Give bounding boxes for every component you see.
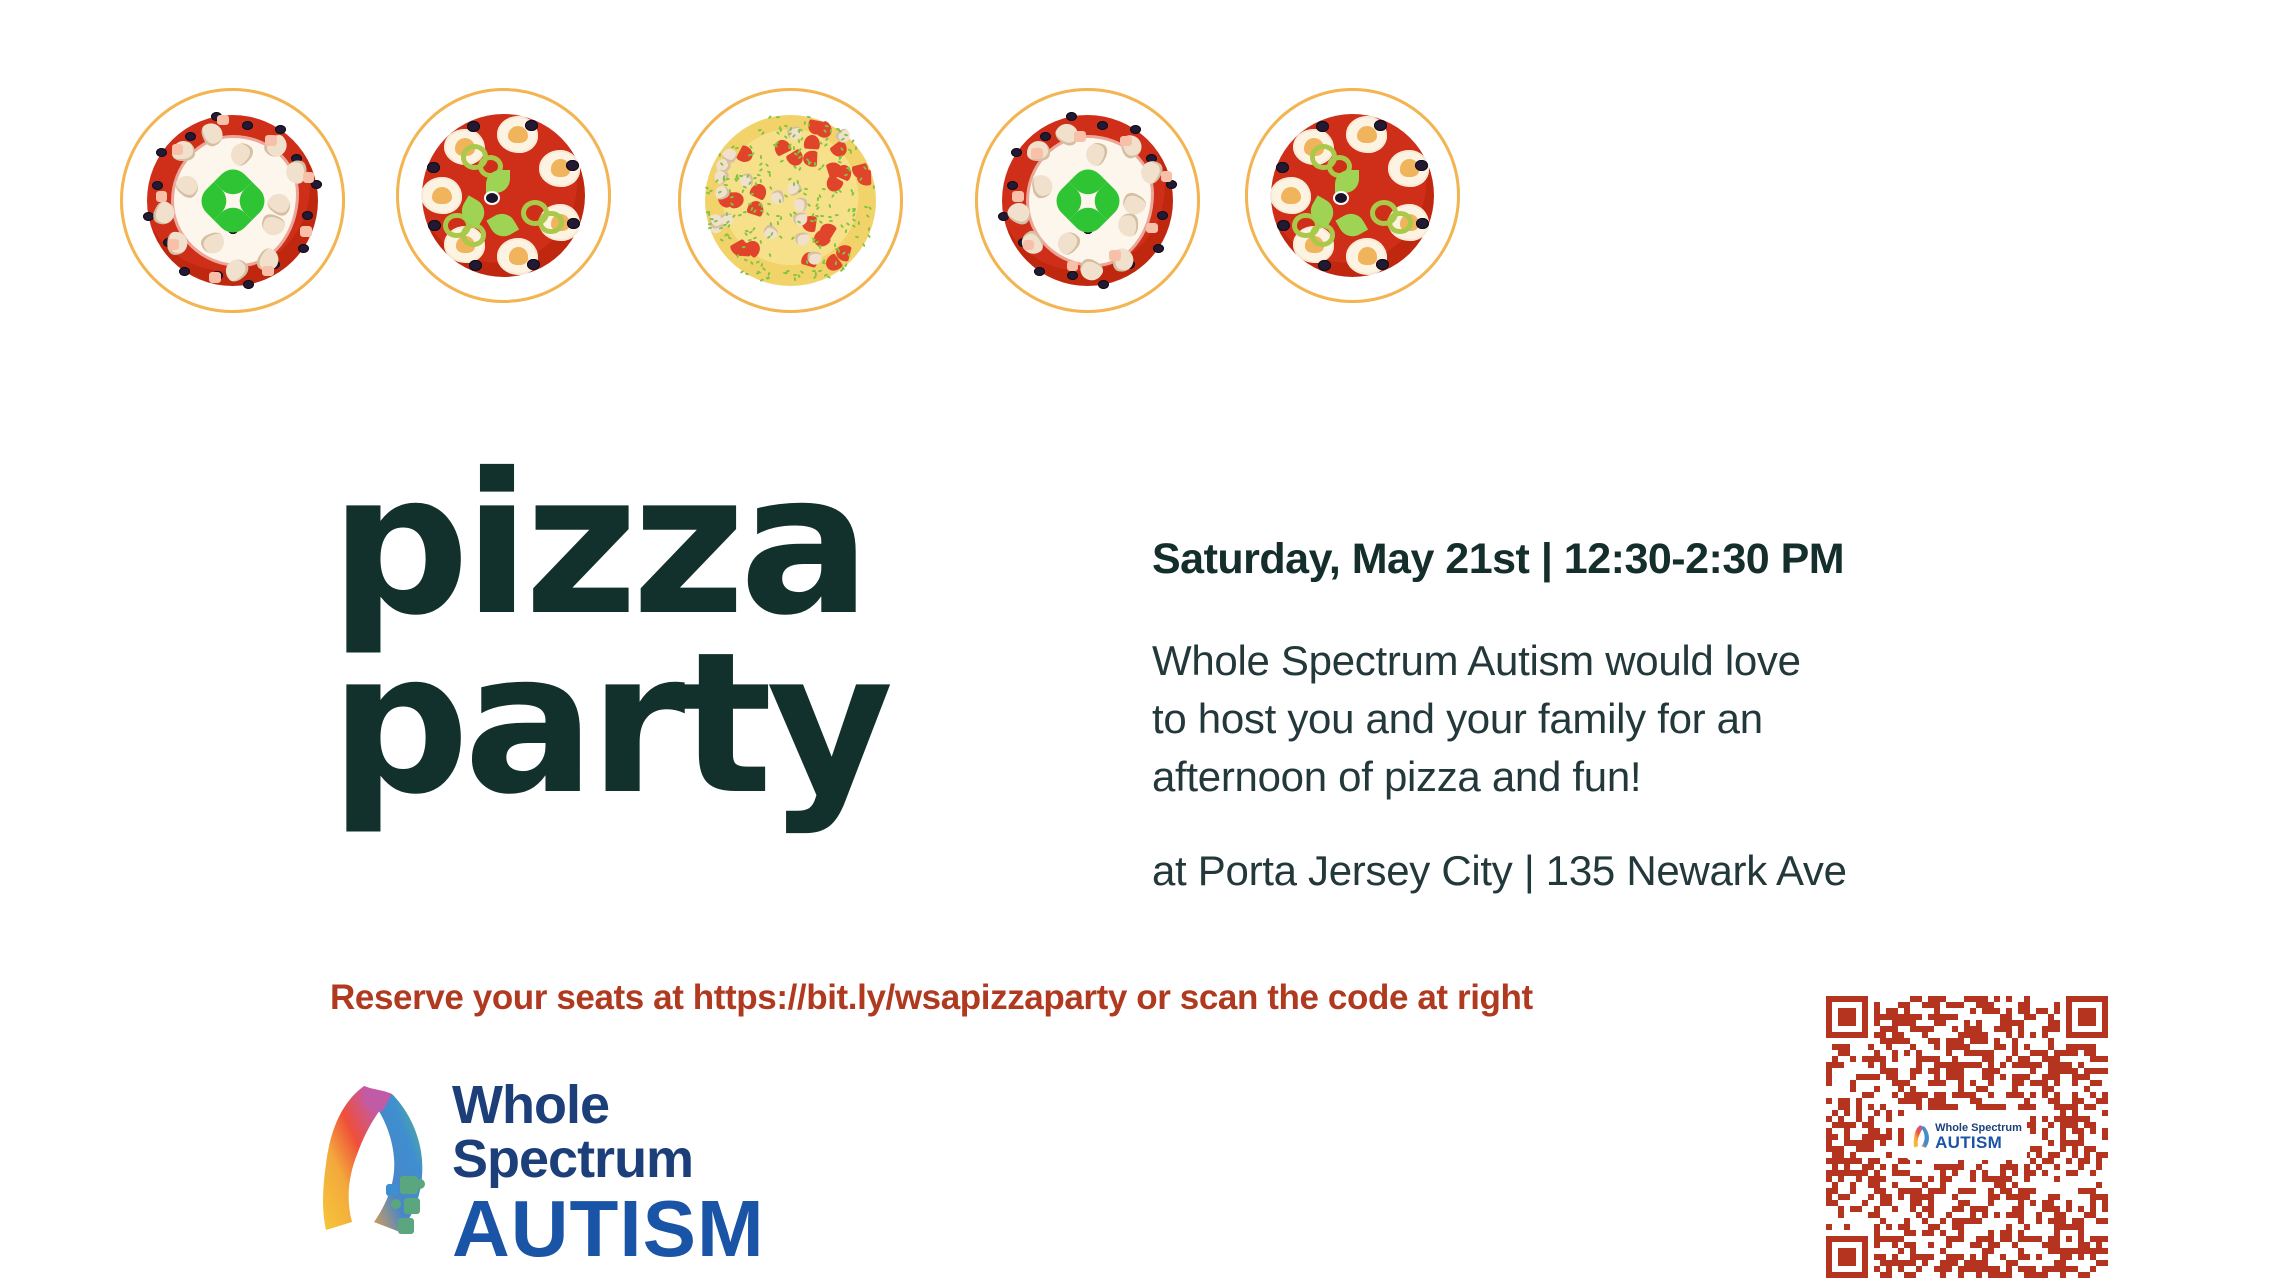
pizza-topping bbox=[467, 121, 480, 132]
pizza-topping bbox=[855, 146, 857, 150]
pizza-topping bbox=[1040, 132, 1051, 141]
mushroom-slice bbox=[432, 187, 452, 205]
pizza-topping bbox=[1270, 177, 1311, 214]
pizza-topping bbox=[1318, 260, 1331, 271]
qr-logo-line-2: AUTISM bbox=[1935, 1134, 2022, 1151]
pizza-topping bbox=[722, 177, 724, 181]
pizza-topping bbox=[428, 220, 441, 231]
pizza-topping bbox=[525, 120, 538, 131]
pizza-topping bbox=[1031, 148, 1043, 159]
pizza-3 bbox=[678, 88, 903, 313]
pizza-topping bbox=[1376, 259, 1389, 270]
pizza-topping bbox=[1316, 121, 1329, 132]
pizza-topping bbox=[803, 121, 806, 125]
event-venue: at Porta Jersey City | 135 Newark Ave bbox=[1152, 842, 2032, 900]
pizza-topping bbox=[803, 134, 819, 148]
pizza-topping bbox=[1387, 211, 1413, 235]
pizza-topping bbox=[1153, 244, 1164, 253]
pizza-topping bbox=[742, 246, 746, 249]
pizza-topping bbox=[834, 261, 837, 265]
pizza-2 bbox=[396, 88, 611, 303]
pizza-topping bbox=[829, 220, 833, 222]
event-datetime: Saturday, May 21st | 12:30-2:30 PM bbox=[1152, 535, 2032, 584]
pizza-topping bbox=[847, 253, 850, 257]
pizza-topping bbox=[867, 227, 870, 231]
pizza-topping bbox=[1277, 220, 1290, 231]
pizza-topping bbox=[1074, 131, 1086, 142]
pizza-topping bbox=[743, 210, 747, 213]
pizza-topping bbox=[769, 222, 772, 226]
pizza-topping bbox=[172, 144, 184, 155]
qr-code[interactable]: Whole Spectrum AUTISM bbox=[1826, 996, 2108, 1278]
pizza-1 bbox=[120, 88, 345, 313]
logo-wordmark: Whole Spectrum AUTISM bbox=[452, 1078, 832, 1270]
mushroom-slice bbox=[508, 126, 528, 144]
headline-line-2: party bbox=[330, 634, 888, 813]
pizza-topping bbox=[1157, 211, 1168, 220]
pizza-topping bbox=[469, 260, 482, 271]
pizza-topping bbox=[538, 211, 564, 235]
pizza-topping bbox=[873, 185, 875, 189]
pizza-topping bbox=[756, 173, 760, 176]
pizza-topping bbox=[836, 128, 840, 130]
pizza-topping bbox=[729, 195, 733, 198]
pizza-topping bbox=[185, 132, 196, 141]
pizza-topping bbox=[1416, 218, 1429, 229]
pizza-topping bbox=[728, 189, 730, 193]
pizza-topping bbox=[776, 221, 779, 225]
pizza-topping bbox=[759, 155, 762, 159]
pizza-topping bbox=[461, 223, 487, 247]
pizza-topping bbox=[1066, 112, 1077, 121]
pizza-topping bbox=[1130, 125, 1141, 134]
reservation-link[interactable]: Reserve your seats at https://bit.ly/wsa… bbox=[330, 978, 1533, 1018]
pizza-illustration-row bbox=[0, 0, 2286, 440]
pizza-topping bbox=[755, 182, 757, 186]
pizza-4 bbox=[975, 88, 1200, 313]
pizza-topping bbox=[262, 266, 274, 277]
pizza-topping bbox=[1120, 136, 1132, 147]
event-details: Saturday, May 21st | 12:30-2:30 PM Whole… bbox=[1152, 535, 2032, 900]
pizza-topping bbox=[1023, 240, 1035, 251]
whole-spectrum-autism-logo: Whole Spectrum AUTISM bbox=[312, 1070, 832, 1260]
pizza-topping bbox=[1012, 191, 1024, 202]
pizza-topping bbox=[527, 259, 540, 270]
pizza-topping bbox=[168, 239, 180, 250]
pizza-topping bbox=[300, 226, 312, 237]
mushroom-slice bbox=[1358, 247, 1378, 265]
pizza-topping bbox=[808, 161, 810, 165]
pizza-topping bbox=[1310, 223, 1336, 247]
logo-line-2: AUTISM bbox=[452, 1188, 832, 1270]
pizza-topping bbox=[567, 218, 580, 229]
pizza-topping bbox=[793, 146, 795, 150]
pizza-topping bbox=[421, 177, 462, 214]
pizza-topping bbox=[1034, 267, 1045, 276]
pizza-topping bbox=[298, 244, 309, 253]
pizza-topping bbox=[778, 199, 781, 203]
pizza-topping bbox=[152, 181, 163, 190]
headline-line-1: pizza bbox=[330, 455, 888, 634]
pizza-topping bbox=[156, 191, 168, 202]
qr-embedded-logo: Whole Spectrum AUTISM bbox=[1907, 1114, 2027, 1160]
pizza-topping bbox=[217, 115, 229, 126]
pizza-topping bbox=[1007, 181, 1018, 190]
pizza-topping bbox=[302, 211, 313, 220]
pizza-topping bbox=[303, 172, 315, 183]
pizza-topping bbox=[820, 215, 824, 218]
description-line-1: Whole Spectrum Autism would love bbox=[1152, 632, 2032, 690]
pizza-topping bbox=[734, 146, 738, 149]
pizza-topping bbox=[710, 217, 714, 220]
description-line-2: to host you and your family for an bbox=[1152, 690, 2032, 748]
pizza-topping bbox=[759, 179, 762, 183]
pizza-topping bbox=[759, 240, 762, 244]
mushroom-slice bbox=[509, 247, 529, 265]
pizza-topping bbox=[265, 135, 277, 146]
qr-ribbon-icon bbox=[1912, 1121, 1932, 1153]
pizza-topping bbox=[275, 125, 286, 134]
pizza-topping bbox=[828, 215, 832, 218]
pizza-topping bbox=[1374, 120, 1387, 131]
pizza-topping bbox=[1067, 271, 1078, 280]
pizza-party-flyer: pizza party Saturday, May 21st | 12:30-2… bbox=[0, 0, 2286, 1286]
logo-line-1: Whole Spectrum bbox=[452, 1078, 832, 1186]
pizza-topping bbox=[1161, 171, 1173, 182]
awareness-ribbon-icon bbox=[312, 1072, 442, 1252]
pizza-topping bbox=[209, 272, 221, 283]
description-line-3: afternoon of pizza and fun! bbox=[1152, 748, 2032, 806]
mushroom-slice bbox=[1281, 187, 1301, 205]
page-title: pizza party bbox=[330, 455, 888, 814]
pizza-topping bbox=[1146, 223, 1158, 234]
pizza-topping bbox=[179, 267, 190, 276]
pizza-topping bbox=[779, 216, 781, 220]
pizza-topping bbox=[1109, 250, 1121, 261]
pizza-topping bbox=[1067, 261, 1079, 272]
pizza-topping bbox=[804, 187, 808, 190]
pizza-topping bbox=[776, 116, 780, 118]
mushroom-slice bbox=[1357, 126, 1377, 144]
pizza-5 bbox=[1245, 88, 1460, 303]
event-description: Whole Spectrum Autism would love to host… bbox=[1152, 632, 2032, 806]
